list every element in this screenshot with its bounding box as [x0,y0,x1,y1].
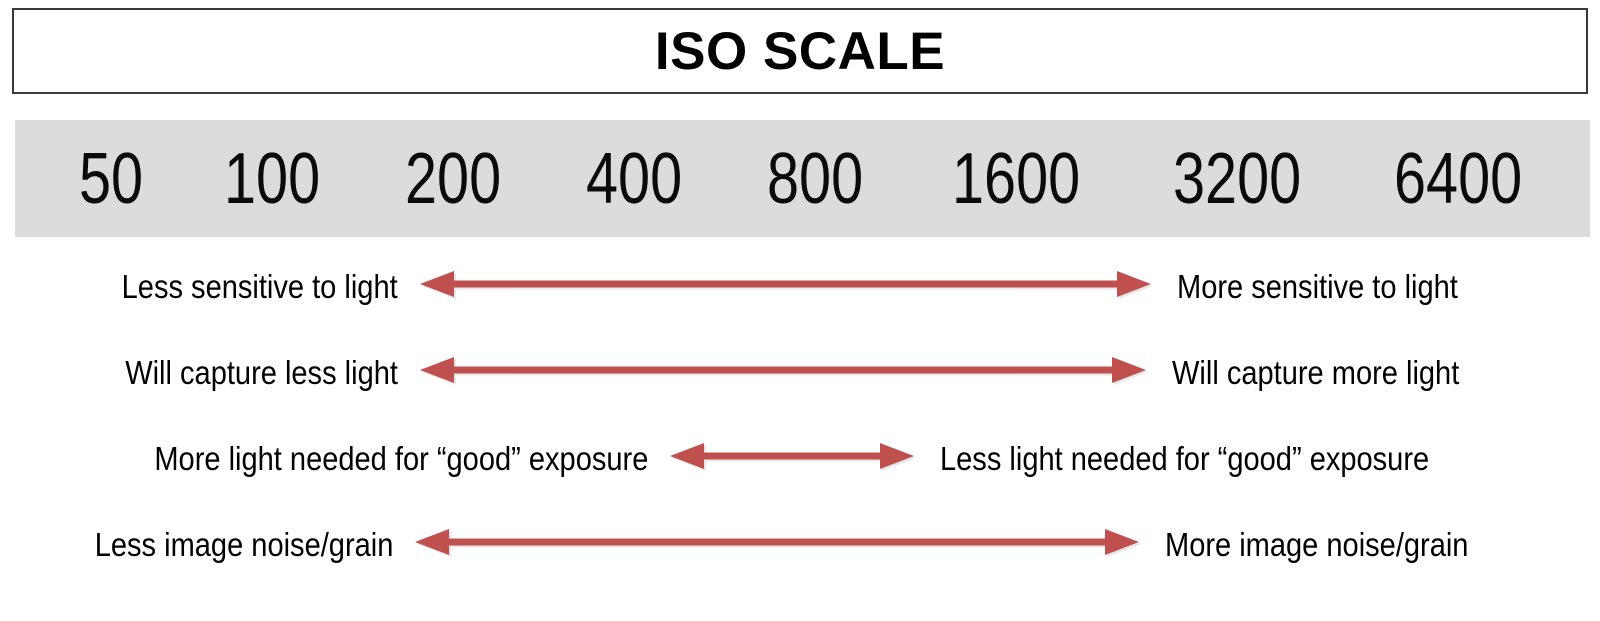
comparison-right-label: More image noise/grain [1165,528,1468,561]
title-box: ISO SCALE [12,8,1588,94]
iso-value: 50 [79,143,143,215]
comparison-right-label: More sensitive to light [1177,270,1458,303]
comparison-row: Less sensitive to light More sensitive t… [0,243,1600,329]
double-arrow-icon [420,266,1155,306]
comparison-right-slot: More image noise/grain [1143,528,1600,561]
comparison-left-slot: More light needed for “good” exposure [0,442,670,475]
iso-value: 200 [405,143,501,215]
comparison-right-label: Less light needed for “good” exposure [940,442,1429,475]
iso-value-band: 50 100 200 400 800 1600 3200 6400 [15,120,1590,237]
iso-value: 400 [586,143,682,215]
comparison-left-slot: Less image noise/grain [0,528,415,561]
comparison-left-label: More light needed for “good” exposure [154,442,648,475]
comparison-right-slot: More sensitive to light [1155,270,1600,303]
comparison-left-label: Will capture less light [125,356,398,389]
double-arrow-icon [415,524,1143,564]
comparison-arrow-slot [420,352,1150,392]
iso-scale-infographic: ISO SCALE 50 100 200 400 800 1600 3200 6… [0,0,1600,621]
double-arrow-icon [420,352,1150,392]
comparison-arrow-slot [420,266,1155,306]
page-title: ISO SCALE [655,25,945,78]
comparison-arrow-slot [415,524,1143,564]
comparison-left-slot: Will capture less light [0,356,420,389]
comparison-row: More light needed for “good” exposure Le… [0,415,1600,501]
iso-value: 3200 [1173,143,1301,215]
comparison-row: Less image noise/grain More image noise/… [0,501,1600,587]
comparison-row: Will capture less light Will capture mor… [0,329,1600,415]
comparison-right-slot: Will capture more light [1150,356,1600,389]
comparison-right-slot: Less light needed for “good” exposure [918,442,1600,475]
double-arrow-icon [670,438,918,478]
comparison-arrow-slot [670,438,918,478]
iso-value: 6400 [1394,143,1522,215]
iso-value: 1600 [952,143,1080,215]
comparison-left-slot: Less sensitive to light [0,270,420,303]
comparison-rows: Less sensitive to light More sensitive t… [0,243,1600,587]
comparison-left-label: Less image noise/grain [94,528,393,561]
comparison-left-label: Less sensitive to light [122,270,398,303]
iso-value: 800 [767,143,863,215]
iso-value: 100 [224,143,320,215]
comparison-right-label: Will capture more light [1172,356,1459,389]
